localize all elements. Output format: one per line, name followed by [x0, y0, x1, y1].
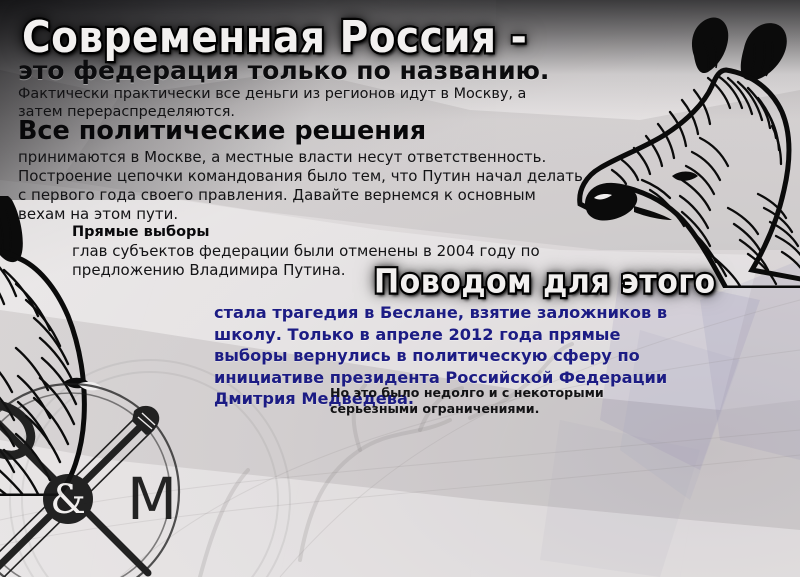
subheadline-primary: это федерация только по названию.	[18, 58, 549, 84]
headline-secondary: Все политические решения	[18, 118, 426, 145]
paragraph-5-footnote: Но это было недолго и с некоторыми серье…	[330, 385, 630, 417]
paragraph-2: принимаются в Москве, а местные власти н…	[18, 148, 584, 224]
headline-primary: Современная Россия -	[22, 16, 527, 60]
poster-text-content: Современная Россия - это федерация тольк…	[0, 0, 800, 577]
sub-label-direct-elections: Прямые выборы	[72, 224, 210, 240]
poster-canvas: & P M Современная Россия - это федерация…	[0, 0, 800, 577]
headline-tertiary: Поводом для этого	[374, 266, 716, 299]
